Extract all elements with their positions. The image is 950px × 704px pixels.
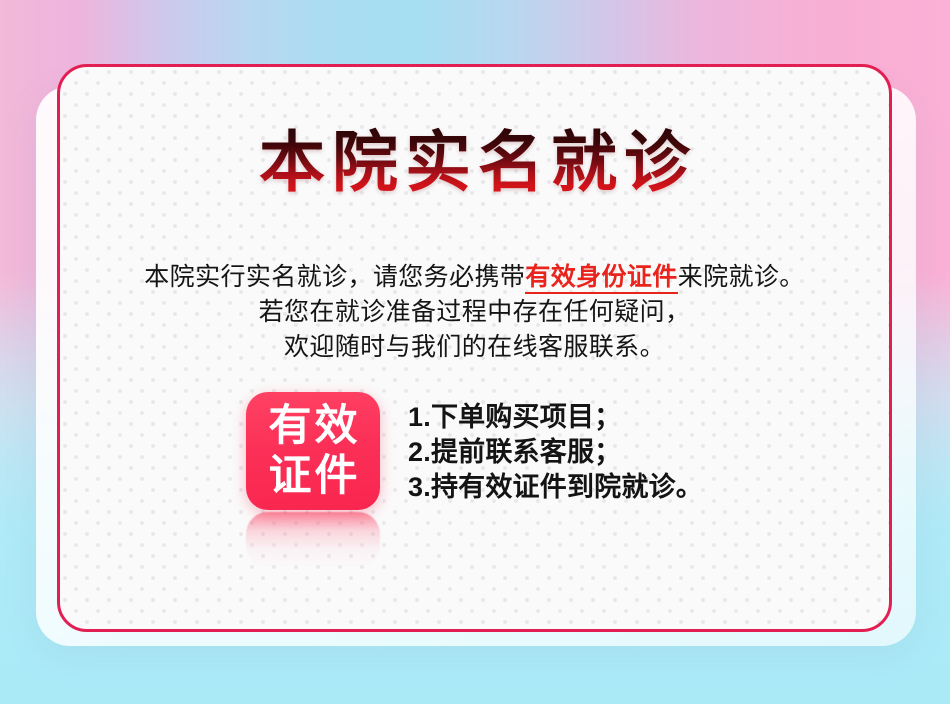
valid-id-badge-line-2: 证件 [266, 451, 361, 501]
step-item-2: 2.提前联系客服； [408, 435, 703, 470]
notice-body-line-1-part-3: 来院就诊。 [678, 263, 805, 291]
notice-card: 本院实名就诊 本院实行实名就诊，请您务必携带有效身份证件来院就诊。 若您在就诊准… [57, 64, 892, 632]
page-title: 本院实名就诊 [60, 127, 889, 201]
notice-body-line-1-part-1: 本院实行实名就诊，请您务必携带 [144, 263, 525, 291]
step-item-1: 1.下单购买项目； [408, 400, 703, 435]
valid-id-badge: 有效 证件 [246, 392, 380, 510]
step-item-3: 3.持有效证件到院就诊。 [408, 470, 703, 505]
notice-body-line-3: 欢迎随时与我们的在线客服联系。 [60, 330, 889, 365]
notice-body-line-1: 本院实行实名就诊，请您务必携带有效身份证件来院就诊。 [60, 260, 889, 295]
valid-id-badge-reflection [246, 512, 380, 568]
steps-list: 1.下单购买项目； 2.提前联系客服； 3.持有效证件到院就诊。 [408, 392, 703, 505]
notice-body-highlight: 有效身份证件 [525, 263, 677, 294]
notice-body: 本院实行实名就诊，请您务必携带有效身份证件来院就诊。 若您在就诊准备过程中存在任… [60, 260, 889, 365]
poster-canvas: 本院实名就诊 本院实行实名就诊，请您务必携带有效身份证件来院就诊。 若您在就诊准… [0, 0, 950, 704]
valid-id-badge-wrapper: 有效 证件 [246, 392, 380, 510]
valid-id-badge-line-1: 有效 [266, 401, 361, 451]
callout-row: 有效 证件 1.下单购买项目； 2.提前联系客服； 3.持有效证件到院就诊。 [60, 392, 889, 510]
notice-body-line-2: 若您在就诊准备过程中存在任何疑问， [60, 295, 889, 330]
